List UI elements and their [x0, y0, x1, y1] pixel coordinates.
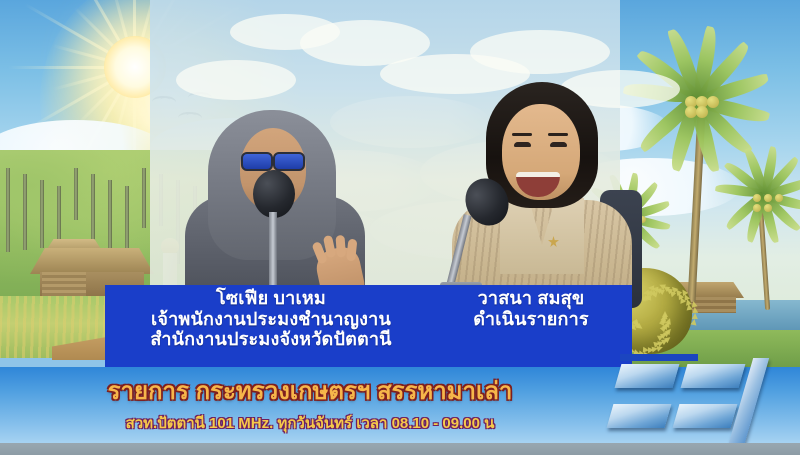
tree-trunk — [108, 180, 112, 256]
eyebrow — [548, 133, 568, 136]
glasses-lens — [241, 152, 273, 171]
logo-accent-bar — [620, 354, 698, 361]
bottom-edge-strip — [0, 443, 800, 455]
tree-trunk — [23, 174, 27, 250]
lower-third-nameplate: โซเฟีย บาเหม เจ้าพนักงานประมงชำนาญงาน สำ… — [105, 285, 632, 367]
left-speaker-name: โซเฟีย บาเหม — [111, 288, 431, 309]
coconut — [753, 194, 761, 202]
eye — [550, 142, 567, 147]
broadcast-info: สวท.ปัตตานี 101 MHz. ทุกวันจันทร์ เวลา 0… — [0, 411, 620, 435]
right-speaker-name: วาสนา สมสุข — [435, 288, 627, 309]
tree-trunk — [125, 186, 129, 254]
hut-roof — [30, 248, 154, 274]
logo-block — [673, 404, 738, 428]
coconut — [707, 96, 719, 108]
backdrop-cloud — [176, 60, 296, 100]
logo-block — [681, 364, 746, 388]
coconut — [775, 194, 783, 202]
coconut — [764, 194, 772, 202]
backdrop-cloud — [470, 30, 610, 74]
hut-wall — [42, 272, 86, 298]
right-speaker-role: ดำเนินรายการ — [435, 309, 627, 330]
coconut — [764, 204, 772, 212]
tree-trunk — [6, 168, 10, 252]
eyebrow — [512, 133, 532, 136]
backdrop-cloud — [230, 14, 340, 50]
glasses-lens — [273, 152, 305, 171]
logo-block — [615, 364, 680, 388]
coconut — [696, 106, 708, 118]
broadcast-screenshot: โซเฟีย บาเหม เจ้าพนักงานประมงชำนาญงาน สำ… — [0, 0, 800, 455]
left-speaker-organization: สำนักงานประมงจังหวัดปัตตานี — [111, 329, 431, 350]
tree-trunk — [40, 180, 44, 248]
durian-spike — [657, 287, 665, 295]
tree-trunk — [142, 168, 146, 228]
eye — [514, 142, 531, 147]
station-logo — [612, 360, 792, 448]
right-speaker-block: วาสนา สมสุข ดำเนินรายการ — [435, 288, 627, 329]
tree-trunk — [74, 168, 78, 220]
tree-trunk — [57, 186, 61, 246]
durian-spike — [643, 347, 650, 354]
durian-spike — [651, 290, 658, 297]
program-title: รายการ กระทรวงเกษตรฯ สรรหามาเล่า — [0, 371, 620, 410]
logo-block — [607, 404, 672, 428]
coconut — [753, 204, 761, 212]
left-speaker-block: โซเฟีย บาเหม เจ้าพนักงานประมงชำนาญงาน สำ… — [111, 288, 431, 350]
left-speaker-position: เจ้าพนักงานประมงชำนาญงาน — [111, 309, 431, 330]
